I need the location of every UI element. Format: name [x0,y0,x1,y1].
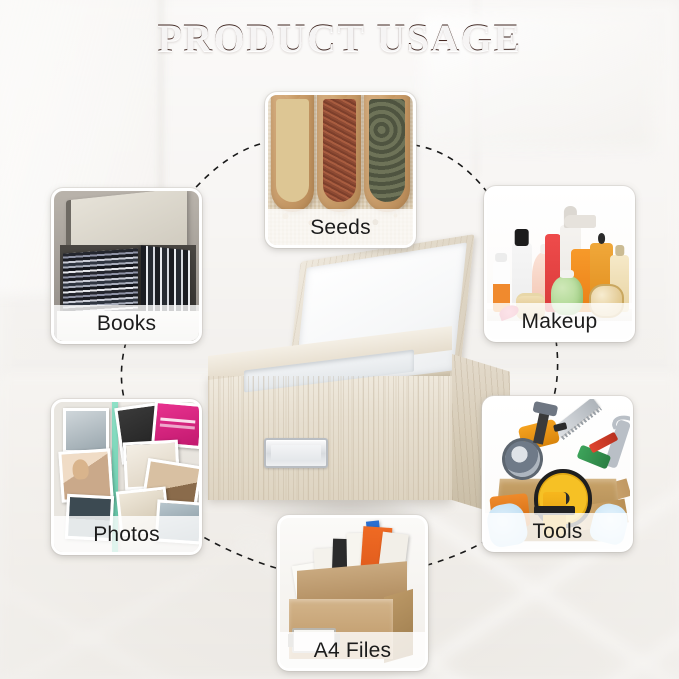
scoop-pumpkin [364,95,410,212]
photo-print [63,408,110,453]
sesame-seeds [276,99,309,202]
usage-label-books: Books [97,313,156,334]
usage-label-band-books: Books [54,305,199,341]
usage-label-photos: Photos [93,524,160,545]
box-body [208,376,452,500]
scoop-sesame [271,95,315,212]
body-wood-grain [208,376,452,500]
flax-seeds [323,99,356,202]
usage-card-a4files[interactable]: A4 Files [277,515,428,671]
page-title: PRODUCT USAGE [157,14,521,61]
usage-label-makeup: Makeup [522,311,598,332]
pumpkin-seeds [369,99,404,202]
usage-label-a4files: A4 Files [314,640,391,661]
handsaw-icon [553,399,599,437]
title-container: PRODUCT USAGE [0,14,679,61]
usage-label-band-tools: Tools [485,513,630,549]
scoop-flax [317,95,361,212]
usage-card-books[interactable]: Books [51,188,202,344]
product-storage-box[interactable] [196,248,496,518]
infographic-canvas: PRODUCT USAGE [0,0,679,679]
usage-label-band-seeds: Seeds [268,209,413,245]
usage-label-band-photos: Photos [54,516,199,552]
usage-label-seeds: Seeds [310,217,371,238]
usage-label-tools: Tools [532,521,582,542]
pump-nozzle [564,215,596,229]
usage-card-tools[interactable]: Tools [482,396,633,552]
usage-card-makeup[interactable]: Makeup [484,186,635,342]
usage-label-band-makeup: Makeup [487,303,632,339]
usage-card-seeds[interactable]: Seeds [265,92,416,248]
chrome-label-holder[interactable] [264,438,328,468]
usage-label-band-a4files: A4 Files [280,632,425,668]
usage-card-photos[interactable]: Photos [51,399,202,555]
